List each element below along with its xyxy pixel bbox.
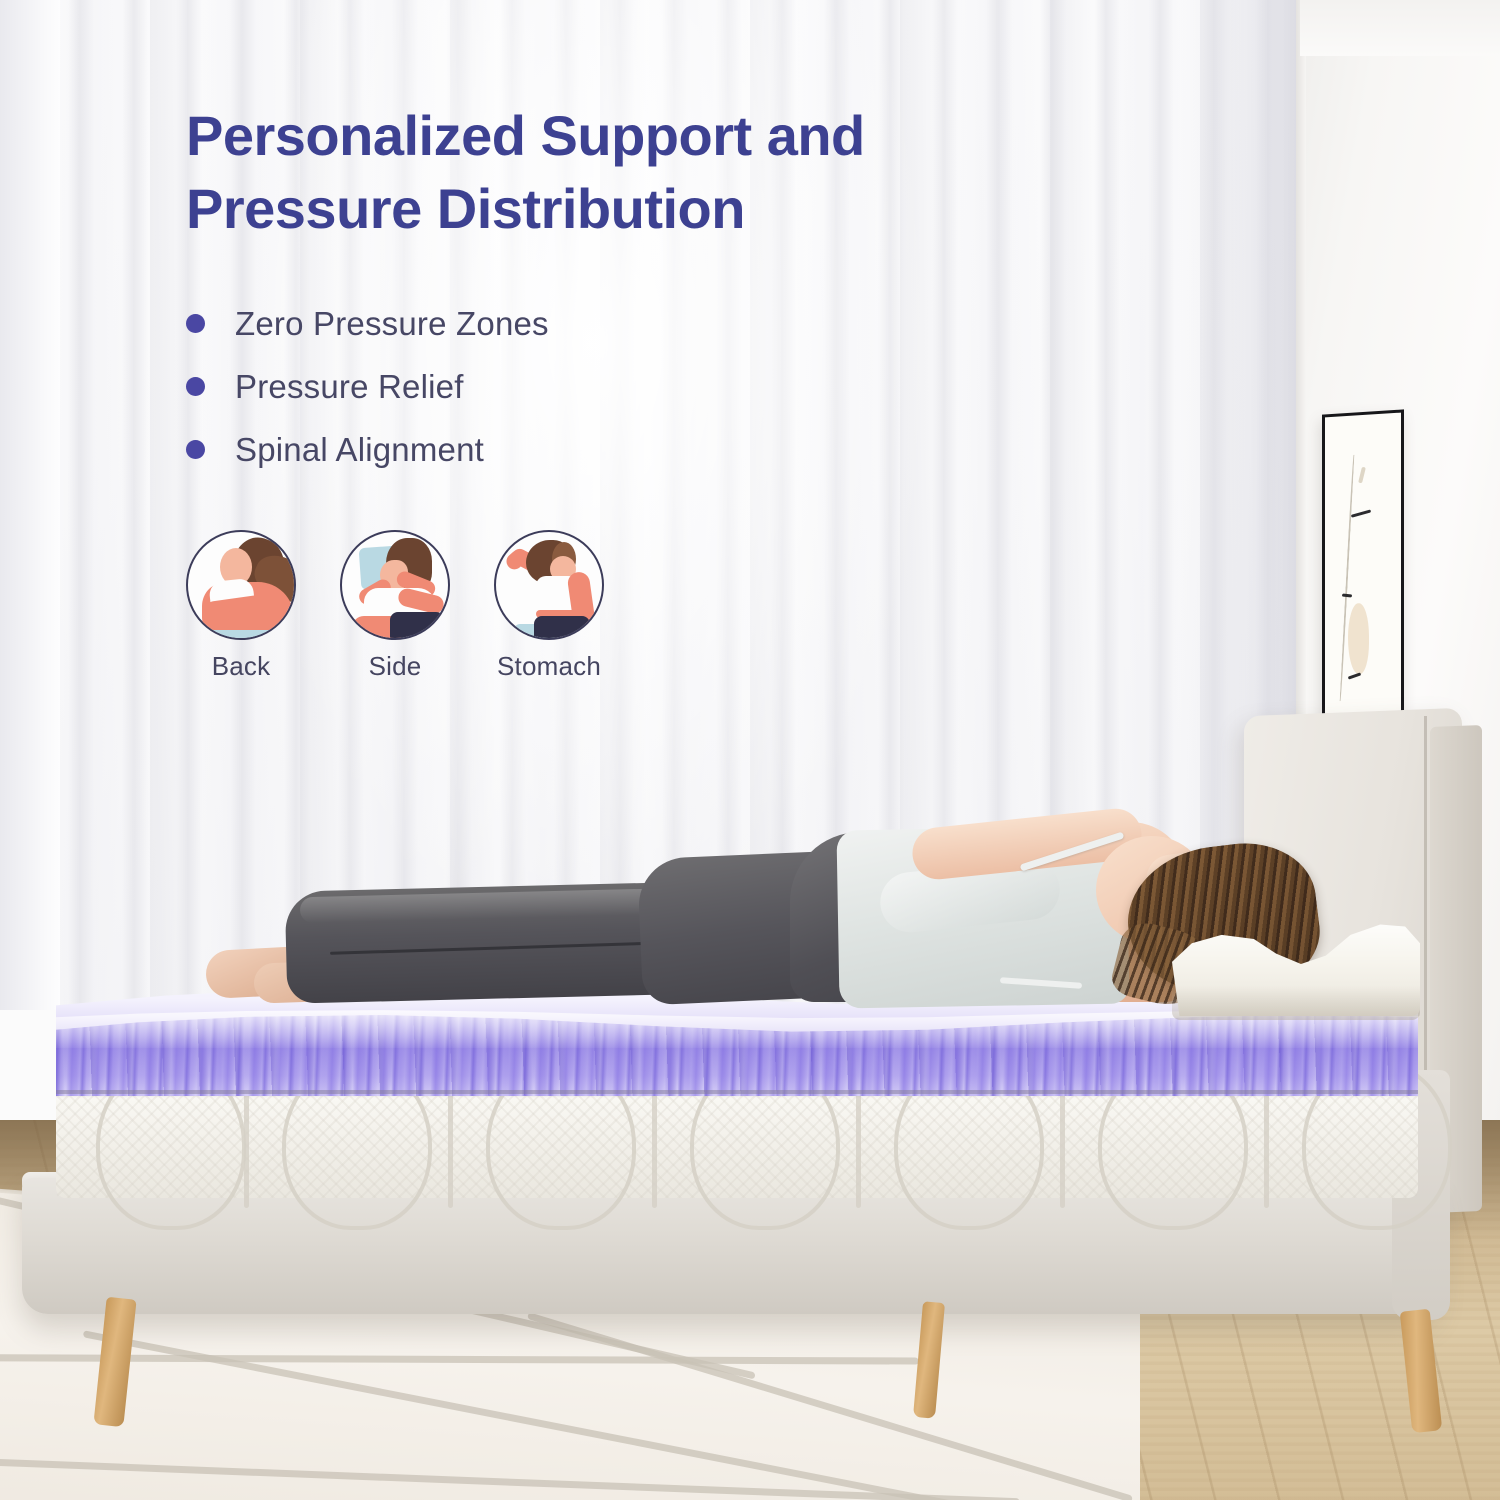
page-title: Personalized Support and Pressure Distri… [186,100,1066,246]
marketing-overlay: Personalized Support and Pressure Distri… [0,0,1500,1500]
illustration-shorts [534,616,590,640]
bullet-label: Pressure Relief [235,368,464,406]
sleep-position-side: Side [340,530,450,682]
bullet-dot-icon [186,377,205,396]
sleep-position-back: Back [186,530,296,682]
sleep-position-label: Stomach [494,651,604,682]
sleeper-back-icon [186,530,296,640]
bullet-dot-icon [186,440,205,459]
sleeper-stomach-icon [494,530,604,640]
list-item: Pressure Relief [186,355,549,418]
sleep-position-stomach: Stomach [494,530,604,682]
sleep-position-label: Side [340,651,450,682]
headline-line-1: Personalized Support and [186,100,1066,173]
headline-line-2: Pressure Distribution [186,173,1066,246]
list-item: Zero Pressure Zones [186,292,549,355]
sleep-position-group: Back Side [186,530,604,682]
feature-bullet-list: Zero Pressure Zones Pressure Relief Spin… [186,292,549,481]
bullet-dot-icon [186,314,205,333]
illustration-shorts [390,612,446,640]
bullet-label: Zero Pressure Zones [235,305,549,343]
bullet-label: Spinal Alignment [235,431,484,469]
sleep-position-label: Back [186,651,296,682]
sleeper-side-icon [340,530,450,640]
list-item: Spinal Alignment [186,418,549,481]
